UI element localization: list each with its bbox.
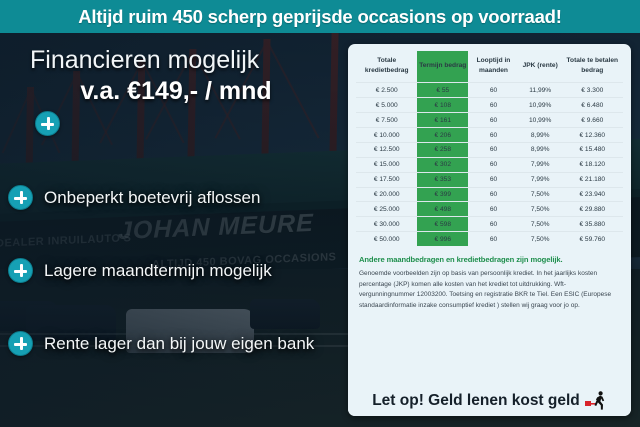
cell-duration: 60 xyxy=(468,187,519,202)
promo-headline-text: Altijd ruim 450 scherp geprijsde occasio… xyxy=(78,6,562,28)
plus-icon xyxy=(35,111,60,136)
cell-total-credit: € 25.000 xyxy=(356,202,417,217)
plus-icon xyxy=(8,331,33,356)
cell-monthly-amount: € 206 xyxy=(417,128,468,143)
finance-headline: Financieren mogelijk v.a. €149,- / mnd xyxy=(30,47,340,105)
table-row: € 5.000€ 1086010,99%€ 6.480 xyxy=(356,98,623,113)
cell-apr: 7,99% xyxy=(519,157,562,172)
cell-apr: 7,99% xyxy=(519,172,562,187)
cell-total-credit: € 7.500 xyxy=(356,113,417,128)
plus-icon xyxy=(8,185,33,210)
table-row: € 7.500€ 1616010,99%€ 9.660 xyxy=(356,113,623,128)
cell-duration: 60 xyxy=(468,157,519,172)
promo-headline-bar: Altijd ruim 450 scherp geprijsde occasio… xyxy=(0,0,640,33)
column-header-apr: JPK (rente) xyxy=(519,51,562,83)
cell-apr: 10,99% xyxy=(519,113,562,128)
cell-total-credit: € 2.500 xyxy=(356,83,417,98)
column-header-total-payable: Totale te betalen bedrag xyxy=(562,51,623,83)
table-row: € 20.000€ 399607,50%€ 23.940 xyxy=(356,187,623,202)
cell-total-payable: € 23.940 xyxy=(562,187,623,202)
cell-apr: 8,99% xyxy=(519,142,562,157)
cell-duration: 60 xyxy=(468,202,519,217)
benefit-item-label: Onbeperkt boetevrij aflossen xyxy=(44,188,260,208)
table-row: € 25.000€ 498607,50%€ 29.880 xyxy=(356,202,623,217)
cell-monthly-amount: € 161 xyxy=(417,113,468,128)
cell-total-payable: € 6.480 xyxy=(562,98,623,113)
cell-duration: 60 xyxy=(468,172,519,187)
table-row: € 12.500€ 258608,99%€ 15.480 xyxy=(356,142,623,157)
benefit-item: Lagere maandtermijn mogelijk xyxy=(8,258,272,283)
benefit-item-label: Rente lager dan bij jouw eigen bank xyxy=(44,334,314,354)
column-header-duration: Looptijd in maanden xyxy=(468,51,519,83)
table-row: € 15.000€ 302607,99%€ 18.120 xyxy=(356,157,623,172)
running-man-icon xyxy=(585,390,607,412)
cell-apr: 8,99% xyxy=(519,128,562,143)
cell-duration: 60 xyxy=(468,142,519,157)
table-row: € 30.000€ 598607,50%€ 35.880 xyxy=(356,217,623,232)
benefits-list: Financieren mogelijk v.a. €149,- / mnd O… xyxy=(0,33,348,427)
notice-body: Genoemde voorbeelden zijn op basis van p… xyxy=(356,269,623,311)
cell-total-credit: € 17.500 xyxy=(356,172,417,187)
table-row: € 50.000€ 996607,50%€ 59.760 xyxy=(356,232,623,246)
cell-total-payable: € 12.360 xyxy=(562,128,623,143)
cell-total-credit: € 10.000 xyxy=(356,128,417,143)
cell-monthly-amount: € 258 xyxy=(417,142,468,157)
benefit-item: Rente lager dan bij jouw eigen bank xyxy=(8,331,314,356)
cell-duration: 60 xyxy=(468,98,519,113)
cell-total-payable: € 18.120 xyxy=(562,157,623,172)
finance-headline-line2: v.a. €149,- / mnd xyxy=(30,77,340,105)
cell-apr: 10,99% xyxy=(519,98,562,113)
cell-monthly-amount: € 598 xyxy=(417,217,468,232)
cell-monthly-amount: € 108 xyxy=(417,98,468,113)
cell-apr: 7,50% xyxy=(519,187,562,202)
benefit-item: Onbeperkt boetevrij aflossen xyxy=(8,185,260,210)
benefit-item-label: Lagere maandtermijn mogelijk xyxy=(44,261,272,281)
finance-headline-line1: Financieren mogelijk xyxy=(30,47,340,74)
cell-apr: 7,50% xyxy=(519,232,562,246)
cell-total-payable: € 59.760 xyxy=(562,232,623,246)
cell-total-payable: € 21.180 xyxy=(562,172,623,187)
cell-monthly-amount: € 399 xyxy=(417,187,468,202)
cell-total-credit: € 15.000 xyxy=(356,157,417,172)
cell-duration: 60 xyxy=(468,217,519,232)
finance-promo-banner: JOHAN MEURE DEALER INRUILAUTO'S ALTIJD 4… xyxy=(0,0,640,427)
table-body: € 2.500€ 556011,99%€ 3.300 € 5.000€ 1086… xyxy=(356,83,623,246)
finance-rates-table: Totale kredietbedrag Termijn bedrag Loop… xyxy=(356,51,623,246)
rates-panel: Totale kredietbedrag Termijn bedrag Loop… xyxy=(348,44,631,416)
cell-monthly-amount: € 302 xyxy=(417,157,468,172)
cell-duration: 60 xyxy=(468,232,519,246)
cell-duration: 60 xyxy=(468,83,519,98)
cell-apr: 7,50% xyxy=(519,202,562,217)
table-header-row: Totale kredietbedrag Termijn bedrag Loop… xyxy=(356,51,623,83)
cell-total-payable: € 15.480 xyxy=(562,142,623,157)
plus-icon xyxy=(8,258,33,283)
cell-duration: 60 xyxy=(468,128,519,143)
cell-total-credit: € 50.000 xyxy=(356,232,417,246)
table-row: € 2.500€ 556011,99%€ 3.300 xyxy=(356,83,623,98)
cell-total-credit: € 20.000 xyxy=(356,187,417,202)
cell-apr: 7,50% xyxy=(519,217,562,232)
table-row: € 10.000€ 206608,99%€ 12.360 xyxy=(356,128,623,143)
credit-warning-bar: Let op! Geld lenen kost geld xyxy=(348,385,631,416)
table-row: € 17.500€ 353607,99%€ 21.180 xyxy=(356,172,623,187)
cell-total-payable: € 3.300 xyxy=(562,83,623,98)
cell-total-payable: € 35.880 xyxy=(562,217,623,232)
notice-title: Andere maandbedragen en kredietbedragen … xyxy=(356,255,623,264)
cell-monthly-amount: € 353 xyxy=(417,172,468,187)
column-header-total-credit: Totale kredietbedrag xyxy=(356,51,417,83)
cell-total-credit: € 12.500 xyxy=(356,142,417,157)
cell-total-credit: € 30.000 xyxy=(356,217,417,232)
cell-apr: 11,99% xyxy=(519,83,562,98)
cell-monthly-amount: € 996 xyxy=(417,232,468,246)
cell-total-payable: € 9.660 xyxy=(562,113,623,128)
cell-monthly-amount: € 55 xyxy=(417,83,468,98)
cell-monthly-amount: € 498 xyxy=(417,202,468,217)
cell-duration: 60 xyxy=(468,113,519,128)
cell-total-credit: € 5.000 xyxy=(356,98,417,113)
cell-total-payable: € 29.880 xyxy=(562,202,623,217)
column-header-monthly-amount: Termijn bedrag xyxy=(417,51,468,83)
credit-warning-text: Let op! Geld lenen kost geld xyxy=(372,392,580,410)
